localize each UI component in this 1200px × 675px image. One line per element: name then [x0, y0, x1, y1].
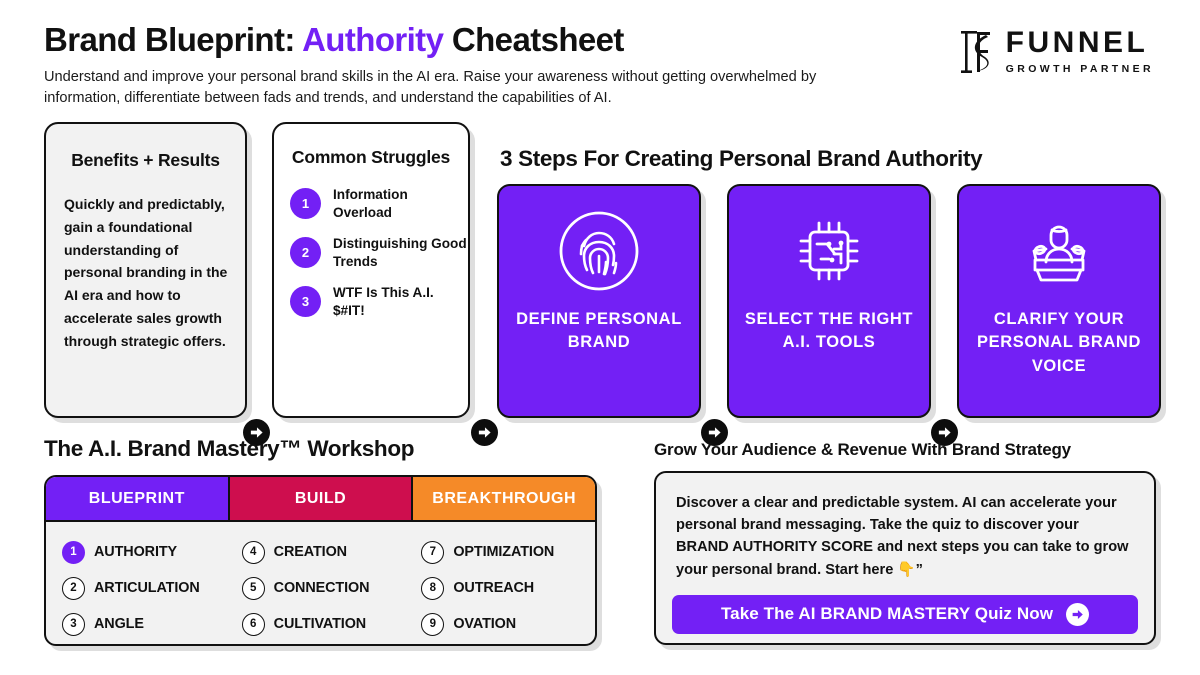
- title-accent-word: Authority: [302, 21, 443, 58]
- step-card-select-right-ai-tools[interactable]: SELECT THE RIGHT A.I. TOOLS: [727, 184, 931, 418]
- list-item[interactable]: 3 ANGLE: [62, 606, 236, 642]
- page-subtitle: Understand and improve your personal bra…: [44, 67, 874, 109]
- item-number-badge: 8: [421, 577, 444, 600]
- workshop-column-2: 4 CREATION 5 CONNECTION 6 CULTIVATION: [236, 534, 416, 642]
- list-item[interactable]: 7 OPTIMIZATION: [421, 534, 595, 570]
- struggle-label: Distinguishing Good Trends: [333, 235, 468, 271]
- step-card-define-personal-brand[interactable]: DEFINE PERSONAL BRAND: [497, 184, 701, 418]
- column-header-build[interactable]: BUILD: [228, 477, 412, 520]
- item-number-badge: 4: [242, 541, 265, 564]
- title-part-1: Brand Blueprint:: [44, 21, 302, 58]
- item-number-badge: 7: [421, 541, 444, 564]
- workshop-column-headers: BLUEPRINT BUILD BREAKTHROUGH: [46, 477, 595, 522]
- step-label: CLARIFY YOUR PERSONAL BRAND VOICE: [959, 308, 1159, 378]
- struggle-badge: 1: [290, 188, 321, 219]
- struggles-panel: Common Struggles 1 Information Overload …: [272, 122, 470, 418]
- struggles-heading: Common Struggles: [274, 147, 468, 168]
- infographic-page: Brand Blueprint: Authority Cheatsheet Un…: [0, 0, 1200, 675]
- title-part-2: Cheatsheet: [443, 21, 623, 58]
- list-item[interactable]: 6 CULTIVATION: [242, 606, 416, 642]
- list-item[interactable]: 4 CREATION: [242, 534, 416, 570]
- benefits-panel: Benefits + Results Quickly and predictab…: [44, 122, 247, 418]
- item-number-badge: 6: [242, 613, 265, 636]
- item-label: OPTIMIZATION: [453, 544, 554, 560]
- list-item: 3 WTF Is This A.I. $#IT!: [290, 284, 468, 320]
- logo-wordmark: FUNNEL: [1006, 28, 1149, 58]
- column-header-blueprint[interactable]: BLUEPRINT: [46, 477, 228, 520]
- struggle-label: Information Overload: [333, 186, 468, 222]
- list-item[interactable]: 5 CONNECTION: [242, 570, 416, 606]
- list-item[interactable]: 8 OUTREACH: [421, 570, 595, 606]
- speaker-podium-icon: [1016, 208, 1102, 294]
- list-item[interactable]: 2 ARTICULATION: [62, 570, 236, 606]
- workshop-items-grid: 1 AUTHORITY 2 ARTICULATION 3 ANGLE 4 CRE…: [46, 522, 595, 642]
- item-label: CREATION: [274, 544, 347, 560]
- workshop-column-3: 7 OPTIMIZATION 8 OUTREACH 9 OVATION: [415, 534, 595, 642]
- item-number-badge: 5: [242, 577, 265, 600]
- item-label: ARTICULATION: [94, 580, 200, 596]
- struggles-list: 1 Information Overload 2 Distinguishing …: [290, 186, 468, 320]
- column-header-breakthrough[interactable]: BREAKTHROUGH: [411, 477, 595, 520]
- step-label: SELECT THE RIGHT A.I. TOOLS: [729, 308, 929, 355]
- item-number-badge: 2: [62, 577, 85, 600]
- step-card-clarify-brand-voice[interactable]: CLARIFY YOUR PERSONAL BRAND VOICE: [957, 184, 1161, 418]
- item-label: CULTIVATION: [274, 616, 366, 632]
- benefits-body: Quickly and predictably, gain a foundati…: [64, 193, 229, 353]
- cta-body-text: Discover a clear and predictable system.…: [676, 492, 1132, 581]
- logo-text-block: FUNNEL GROWTH PARTNER: [1006, 28, 1154, 75]
- list-item: 1 Information Overload: [290, 186, 468, 222]
- item-label: CONNECTION: [274, 580, 370, 596]
- item-label: OUTREACH: [453, 580, 534, 596]
- cta-panel: Discover a clear and predictable system.…: [654, 471, 1156, 645]
- cards-row: Benefits + Results Quickly and predictab…: [0, 122, 1200, 422]
- item-number-badge: 3: [62, 613, 85, 636]
- struggle-badge: 2: [290, 237, 321, 268]
- workshop-heading: The A.I. Brand Mastery™ Workshop: [44, 436, 414, 462]
- list-item[interactable]: 1 AUTHORITY: [62, 534, 236, 570]
- struggle-badge: 3: [290, 286, 321, 317]
- list-item[interactable]: 9 OVATION: [421, 606, 595, 642]
- item-number-badge: 9: [421, 613, 444, 636]
- take-quiz-button[interactable]: Take The AI BRAND MASTERY Quiz Now: [672, 595, 1138, 634]
- fingerprint-icon: [556, 208, 642, 294]
- take-quiz-button-label: Take The AI BRAND MASTERY Quiz Now: [721, 604, 1053, 624]
- list-item: 2 Distinguishing Good Trends: [290, 235, 468, 271]
- funnel-monogram-icon: [960, 29, 994, 75]
- microchip-icon: [786, 208, 872, 294]
- struggle-label: WTF Is This A.I. $#IT!: [333, 284, 468, 320]
- arrow-right-icon: [1066, 603, 1089, 626]
- steps-heading: 3 Steps For Creating Personal Brand Auth…: [500, 146, 982, 172]
- item-label: ANGLE: [94, 616, 144, 632]
- cta-heading: Grow Your Audience & Revenue With Brand …: [654, 440, 1071, 460]
- benefits-heading: Benefits + Results: [46, 150, 245, 171]
- workshop-column-1: 1 AUTHORITY 2 ARTICULATION 3 ANGLE: [46, 534, 236, 642]
- item-number-badge: 1: [62, 541, 85, 564]
- workshop-table: BLUEPRINT BUILD BREAKTHROUGH 1 AUTHORITY…: [44, 475, 597, 646]
- arrow-connector-2: [471, 419, 498, 446]
- item-label: AUTHORITY: [94, 544, 177, 560]
- item-label: OVATION: [453, 616, 516, 632]
- brand-logo: FUNNEL GROWTH PARTNER: [960, 28, 1154, 75]
- step-label: DEFINE PERSONAL BRAND: [499, 308, 699, 355]
- logo-tagline: GROWTH PARTNER: [1006, 63, 1154, 75]
